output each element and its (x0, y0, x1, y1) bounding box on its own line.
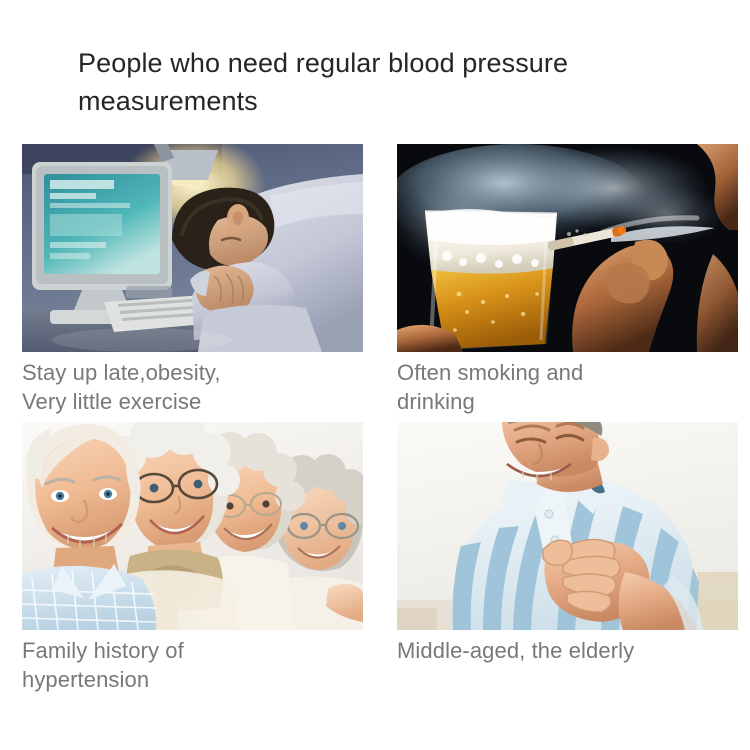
photo-stay-up-late (22, 144, 363, 352)
image-grid: Stay up late,obesity, Very little exerci… (0, 0, 750, 750)
card-middle-aged-elderly: Middle-aged, the elderly (397, 422, 738, 665)
photo-middle-aged-elderly (397, 422, 738, 630)
card-smoking-drinking: Often smoking and drinking (397, 144, 738, 416)
card-family-history: Family history of hypertension (22, 422, 363, 694)
photo-family-history (22, 422, 363, 630)
infographic-page: People who need regular blood pressure m… (0, 0, 750, 750)
caption-smoking-drinking: Often smoking and drinking (397, 358, 738, 416)
caption-family-history: Family history of hypertension (22, 636, 363, 694)
caption-middle-aged-elderly: Middle-aged, the elderly (397, 636, 738, 665)
caption-stay-up-late: Stay up late,obesity, Very little exerci… (22, 358, 363, 416)
card-stay-up-late: Stay up late,obesity, Very little exerci… (22, 144, 363, 416)
photo-smoking-drinking (397, 144, 738, 352)
